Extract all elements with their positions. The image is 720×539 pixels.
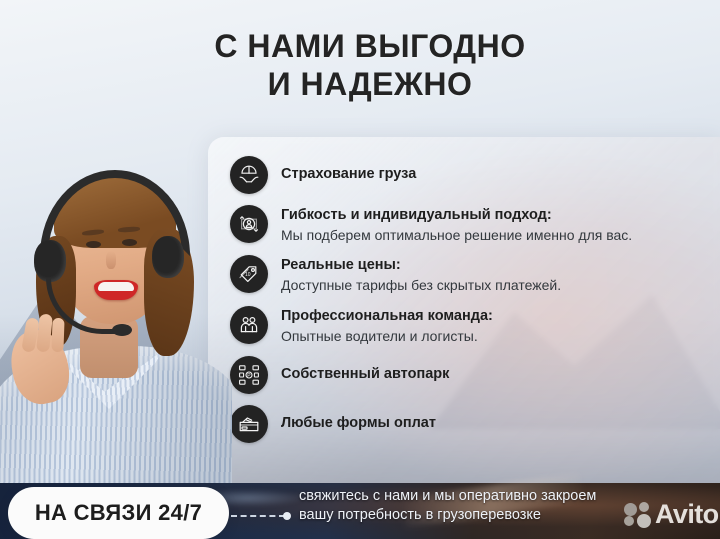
avito-logo: Avito (624, 501, 719, 528)
feature-desc: Опытные водители и логисты. (281, 327, 493, 345)
connector (231, 511, 295, 521)
payment-icon (230, 405, 268, 443)
fleet-icon: P (230, 356, 268, 394)
feature-desc: Мы подберем оптимальное решение именно д… (281, 226, 632, 244)
cta-line-1: свяжитесь с нами и мы оперативно закроем (299, 487, 629, 506)
feature-item: 10 Реальные цены: Доступные тарифы без с… (230, 254, 704, 294)
feature-title: Гибкость и индивидуальный подход: (281, 206, 632, 224)
feature-item: Профессиональная команда: Опытные водите… (230, 305, 704, 345)
feature-title: Профессиональная команда: (281, 307, 493, 325)
feature-desc: Доступные тарифы без скрытых платежей. (281, 276, 561, 294)
avito-dots-icon (624, 502, 652, 528)
advertising-banner: С НАМИ ВЫГОДНО И НАДЕЖНО Страхование гру… (0, 0, 720, 539)
headline-line-1: С НАМИ ВЫГОДНО (150, 28, 590, 66)
finger (51, 318, 64, 352)
cta-line-2: вашу потребность в грузоперевозке (299, 506, 629, 525)
feature-text: Любые формы оплат (281, 404, 436, 432)
feature-text: Собственный автопарк (281, 355, 449, 383)
headline: С НАМИ ВЫГОДНО И НАДЕЖНО (150, 28, 590, 104)
features-card: Страхование груза Гибкость и индивидуаль… (208, 137, 720, 483)
feature-item: Страхование груза (230, 155, 704, 194)
feature-title: Собственный автопарк (281, 357, 449, 383)
team-icon (230, 306, 268, 344)
cargo-insurance-icon (230, 156, 268, 194)
cta-text: свяжитесь с нами и мы оперативно закроем… (299, 487, 629, 525)
feature-item: P Собственный автопарк (230, 355, 704, 394)
feature-title: Страхование груза (281, 157, 416, 183)
headset-earcup-left (34, 240, 66, 282)
feature-title: Реальные цены: (281, 256, 561, 274)
connector-line (231, 515, 285, 517)
operator-photo (0, 118, 232, 539)
feature-text: Гибкость и индивидуальный подход: Мы под… (281, 204, 632, 244)
feature-title: Любые формы оплат (281, 406, 436, 432)
feature-item: Гибкость и индивидуальный подход: Мы под… (230, 204, 704, 244)
connector-dot (283, 512, 291, 520)
price-tag-icon: 10 (230, 255, 268, 293)
headset-earcup-right (152, 236, 184, 278)
status-badge-label: НА СВЯЗИ 24/7 (35, 500, 202, 526)
svg-text:10: 10 (245, 272, 251, 278)
feature-text: Реальные цены: Доступные тарифы без скры… (281, 254, 561, 294)
flexibility-icon (230, 205, 268, 243)
feature-text: Профессиональная команда: Опытные водите… (281, 305, 493, 345)
feature-text: Страхование груза (281, 155, 416, 183)
headline-line-2: И НАДЕЖНО (150, 66, 590, 104)
feature-item: Любые формы оплат (230, 404, 704, 443)
avito-wordmark: Avito (655, 501, 719, 528)
status-badge: НА СВЯЗИ 24/7 (8, 487, 229, 539)
headset-microphone-icon (112, 324, 132, 336)
